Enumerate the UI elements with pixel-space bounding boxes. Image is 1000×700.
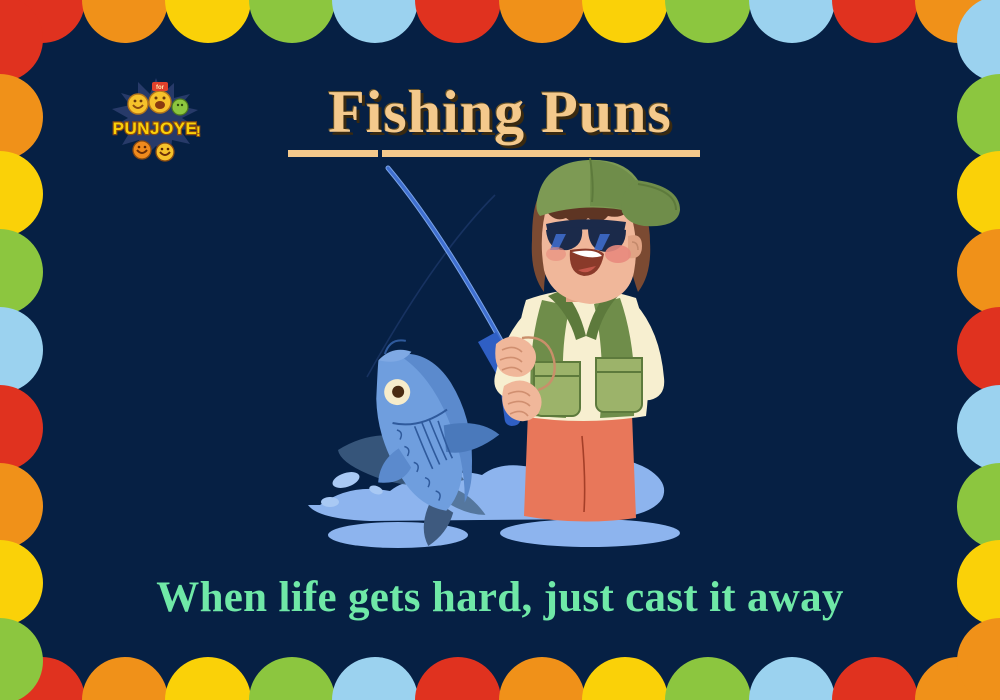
border-dot xyxy=(0,385,43,471)
punjoye-logo[interactable]: for PUNJOYE ! xyxy=(108,74,204,166)
border-dot xyxy=(332,0,418,43)
border-dot xyxy=(915,657,1000,700)
border-dot xyxy=(0,307,43,393)
border-dot xyxy=(0,618,43,700)
border-dot xyxy=(957,463,1000,549)
border-dot xyxy=(832,0,918,43)
border-dot xyxy=(249,0,335,43)
border-dot xyxy=(749,0,835,43)
border-dot xyxy=(165,657,251,700)
border-dot xyxy=(957,385,1000,471)
border-dot xyxy=(832,657,918,700)
border-dot xyxy=(957,618,1000,700)
border-dot xyxy=(957,229,1000,315)
border-dot xyxy=(249,657,335,700)
border-dot xyxy=(0,463,43,549)
border-dot xyxy=(415,657,501,700)
border-dot xyxy=(582,0,668,43)
svg-text:PUNJOYE: PUNJOYE xyxy=(113,119,198,138)
border-dot xyxy=(957,151,1000,237)
border-dot xyxy=(415,0,501,43)
border-dot xyxy=(957,0,1000,82)
border-dot xyxy=(82,657,168,700)
border-dot xyxy=(0,0,85,43)
border-dot xyxy=(665,0,751,43)
border-dot xyxy=(0,657,85,700)
border-dot xyxy=(82,0,168,43)
border-dot xyxy=(0,229,43,315)
poster-canvas: for PUNJOYE ! Fishing Puns xyxy=(0,0,1000,700)
border-dot xyxy=(0,74,43,160)
child-fishing-illustration xyxy=(290,150,710,560)
border-dot xyxy=(582,657,668,700)
border-dot xyxy=(957,74,1000,160)
caption-text: When life gets hard, just cast it away xyxy=(0,573,1000,622)
page-title: Fishing Puns xyxy=(285,82,715,142)
border-dot xyxy=(499,657,585,700)
border-dot xyxy=(332,657,418,700)
vest-pocket-right xyxy=(596,358,642,412)
border-dot xyxy=(0,151,43,237)
svg-text:for: for xyxy=(156,85,165,91)
border-dot xyxy=(0,0,43,82)
border-dot xyxy=(915,0,1000,43)
border-dot xyxy=(165,0,251,43)
border-dot xyxy=(499,0,585,43)
border-dot xyxy=(749,657,835,700)
border-dot xyxy=(665,657,751,700)
svg-text:!: ! xyxy=(196,123,201,139)
border-dot xyxy=(957,307,1000,393)
